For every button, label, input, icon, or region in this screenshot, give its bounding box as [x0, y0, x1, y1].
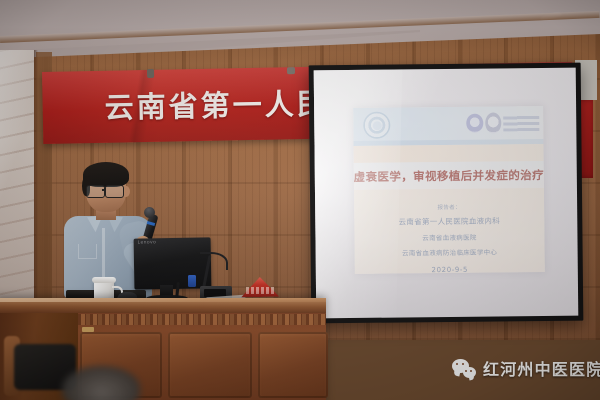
institute-emblem-icon-1 — [466, 114, 483, 133]
wechat-bubble-small — [463, 367, 476, 378]
watermark: 红河州中医医院 — [452, 356, 600, 380]
pillar-edge — [34, 50, 38, 340]
slide-header-band — [353, 106, 543, 146]
slide-affiliation-2: 云南省血液病医院 — [422, 232, 477, 243]
watermark-text: 红河州中医医院 — [483, 356, 600, 380]
slide-presenter-label: 报告者： — [437, 203, 460, 211]
podium-panel-center — [168, 332, 252, 398]
podium-top-highlight — [0, 298, 326, 302]
glasses-lens-left-icon — [86, 185, 105, 198]
gooseneck-microphone-arc — [200, 252, 228, 270]
banner-clip-left-icon — [147, 69, 154, 78]
podium-top-surface — [0, 298, 326, 313]
projection-screen-surface: 聚焦虚衰医学，审视移植后并发症的治疗盲区 报告者： 云南省第一人民医院血液内科 … — [314, 68, 579, 319]
presentation-slide: 聚焦虚衰医学，审视移植后并发症的治疗盲区 报告者： 云南省第一人民医院血液内科 … — [353, 106, 545, 274]
slide-affiliation-3: 云南省血液病防治临床医学中心 — [402, 246, 497, 257]
slide-logo-text-block — [503, 114, 539, 131]
slide-body: 报告者： 云南省第一人民医院血液内科 云南省血液病医院 云南省血液病防治临床医学… — [354, 188, 545, 274]
podium-carved-trim — [78, 314, 326, 325]
slide-title: 聚焦虚衰医学，审视移植后并发症的治疗盲区 — [354, 161, 544, 190]
slide-date: 2020-9-5 — [431, 266, 468, 274]
name-placard-text — [246, 287, 274, 294]
marble-pillar — [0, 50, 34, 340]
slide-affiliation-1: 云南省第一人民医院血液内科 — [399, 215, 501, 227]
slide-accent-band — [354, 144, 544, 163]
banner-clip-right-icon — [287, 67, 295, 74]
monitor-brand-label: Lenovo — [138, 240, 157, 245]
institute-emblem-icon-2 — [485, 112, 501, 133]
projection-screen: 聚焦虚衰医学，审视移植后并发症的治疗盲区 报告者： 云南省第一人民医院血液内科 … — [309, 63, 584, 324]
photo-scene: 云南省第一人民医 聚焦虚衰医学，审视移植后并发症的治疗盲区 报告者： 云南省第一… — [0, 0, 600, 400]
blue-cable-connector — [188, 275, 196, 287]
shirt-pocket — [78, 244, 97, 259]
podium-panel-right — [258, 332, 328, 398]
glasses-bridge-icon — [102, 189, 106, 191]
wechat-icon — [452, 359, 476, 378]
mug-lid — [92, 277, 116, 283]
hospital-emblem-icon — [363, 112, 390, 139]
glasses-lens-right-icon — [105, 185, 124, 198]
